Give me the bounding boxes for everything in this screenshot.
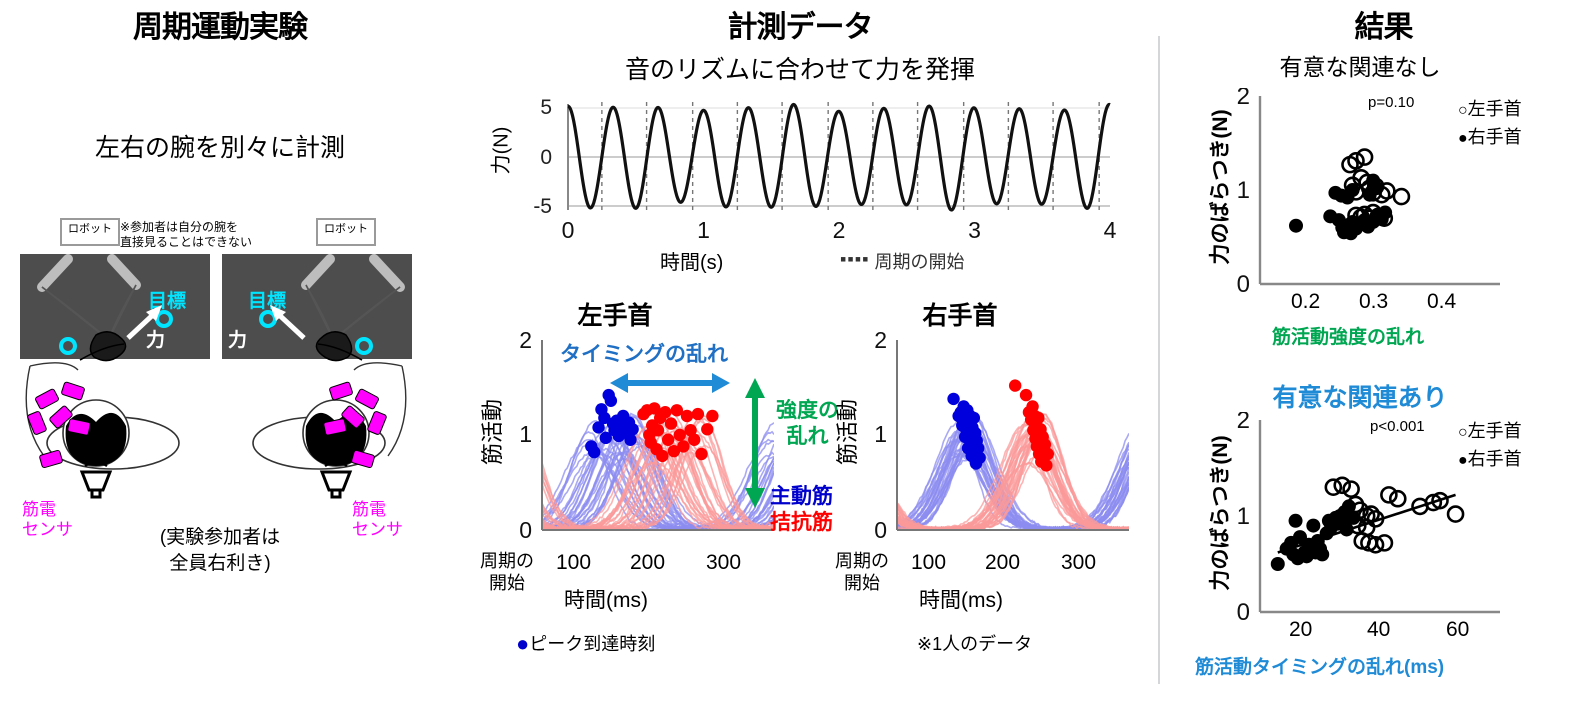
scatter-intensity-xlabel: 筋活動強度の乱れ bbox=[1272, 322, 1424, 349]
force-arrow-right bbox=[252, 300, 312, 350]
participant-figure-right bbox=[214, 360, 414, 500]
cycle-start-dash-icon: ▪▪▪▪ bbox=[840, 249, 870, 269]
sc2-xtick-60: 60 bbox=[1446, 618, 1469, 642]
svg-text:0: 0 bbox=[1237, 271, 1250, 298]
legend-right-label-1: 右手首 bbox=[1468, 127, 1522, 147]
svg-text:0: 0 bbox=[562, 217, 575, 243]
emg-sensor-label-left: 筋電 センサ bbox=[22, 500, 73, 540]
emg-right-xtick-300: 300 bbox=[1061, 551, 1096, 575]
antagonist-label: 拮抗筋 bbox=[770, 506, 833, 536]
emg-left-cycle-start: 周期の 開始 bbox=[470, 550, 544, 594]
sc2-xtick-40: 40 bbox=[1367, 618, 1390, 642]
legend-left-label-2: 左手首 bbox=[1468, 421, 1522, 441]
svg-text:1: 1 bbox=[519, 421, 532, 447]
left-panel-subtitle: 左右の腕を別々に計測 bbox=[0, 128, 440, 164]
emg-left-xtick-300: 300 bbox=[706, 551, 741, 575]
cycle-start-legend-label: 周期の開始 bbox=[875, 252, 965, 272]
scatter-timing-xlabel: 筋活動タイミングの乱れ(ms) bbox=[1195, 652, 1444, 679]
left-panel-title: 周期運動実験 bbox=[0, 2, 440, 46]
scatter-timing-legend: ○左手首 ●右手首 bbox=[1458, 418, 1522, 474]
timing-variability-label: タイミングの乱れ bbox=[560, 338, 728, 368]
hand-ring-left bbox=[59, 337, 77, 355]
force-waveform-svg: 5 0 -5 01234 bbox=[490, 86, 1130, 276]
scatter-timing-pvalue: p<0.001 bbox=[1370, 418, 1425, 435]
hand-ring-right bbox=[355, 337, 373, 355]
scatter-intensity-ylabel-wrap: 力のばらつき(N) bbox=[1204, 110, 1234, 260]
peak-dot-icon: ● bbox=[516, 631, 529, 656]
svg-text:5: 5 bbox=[540, 96, 552, 119]
handedness-caption: (実験参加者は 全員右利き) bbox=[80, 525, 360, 577]
force-waveform-xlabel: 時間(s) bbox=[660, 246, 723, 275]
force-waveform-chart: 5 0 -5 01234 bbox=[490, 86, 1130, 276]
participant-figure-left bbox=[18, 360, 218, 500]
legend-right-label-2: 右手首 bbox=[1468, 449, 1522, 469]
single-subject-note: ※1人のデータ bbox=[917, 630, 1032, 656]
scatter-timing-subtitle: 有意な関連あり bbox=[1210, 378, 1510, 414]
force-waveform-ylabel-wrap: 力(N) bbox=[478, 118, 518, 178]
filled-circle-icon-1: ● bbox=[1458, 130, 1468, 147]
emg-right-cycle-start-line1: 周期の bbox=[825, 550, 899, 572]
force-label-right: 力 bbox=[228, 325, 247, 352]
svg-text:0: 0 bbox=[519, 517, 532, 543]
sc1-xtick-04: 0.4 bbox=[1427, 290, 1456, 314]
legend-row-right-2: ●右手首 bbox=[1458, 446, 1522, 474]
right-wrist-title: 右手首 bbox=[850, 296, 1070, 332]
handedness-caption-line1: (実験参加者は bbox=[80, 525, 360, 551]
force-waveform-ylabel: 力(N) bbox=[485, 116, 514, 186]
right-panel-title: 結果 bbox=[1190, 2, 1577, 46]
emg-left-ylabel-wrap: 筋活動 bbox=[470, 390, 510, 470]
middle-panel-title: 計測データ bbox=[610, 2, 990, 46]
emg-right-cycle-start: 周期の 開始 bbox=[825, 550, 899, 594]
open-circle-icon-2: ○ bbox=[1458, 424, 1468, 441]
cycle-start-legend: ▪▪▪▪ 周期の開始 bbox=[840, 248, 965, 274]
emg-right-svg: 2 1 0 bbox=[845, 332, 1145, 562]
filled-circle-icon-2: ● bbox=[1458, 452, 1468, 469]
handedness-caption-line2: 全員右利き) bbox=[80, 551, 360, 577]
emg-right-cycle-start-line2: 開始 bbox=[825, 572, 899, 594]
svg-text:2: 2 bbox=[833, 217, 846, 243]
svg-text:2: 2 bbox=[1237, 412, 1250, 434]
peak-time-legend: ●ピーク到達時刻 bbox=[516, 630, 655, 657]
legend-row-left-1: ○左手首 bbox=[1458, 96, 1522, 124]
sc1-xtick-03: 0.3 bbox=[1359, 290, 1388, 314]
legend-row-left-2: ○左手首 bbox=[1458, 418, 1522, 446]
emg-left-xtick-200: 200 bbox=[630, 551, 665, 575]
emg-left-ylabel: 筋活動 bbox=[475, 387, 507, 477]
force-label-left: 力 bbox=[146, 325, 165, 352]
emg-left-xtick-100: 100 bbox=[556, 551, 591, 575]
svg-text:4: 4 bbox=[1104, 217, 1117, 243]
svg-text:2: 2 bbox=[519, 332, 532, 353]
emg-left-xlabel: 時間(ms) bbox=[564, 584, 648, 614]
svg-text:1: 1 bbox=[697, 217, 710, 243]
emg-right-xtick-100: 100 bbox=[911, 551, 946, 575]
legend-row-right-1: ●右手首 bbox=[1458, 124, 1522, 152]
emg-left-cycle-start-line1: 周期の bbox=[470, 550, 544, 572]
legend-left-label-1: 左手首 bbox=[1468, 99, 1522, 119]
emg-right-chart: 2 1 0 bbox=[845, 332, 1145, 562]
scatter-intensity-pvalue: p=0.10 bbox=[1368, 94, 1414, 111]
sc1-xtick-02: 0.2 bbox=[1291, 290, 1320, 314]
emg-right-xtick-200: 200 bbox=[985, 551, 1020, 575]
svg-text:1: 1 bbox=[1237, 177, 1250, 204]
emg-sensor-label-right-line1: 筋電 bbox=[352, 500, 403, 520]
sc2-xtick-20: 20 bbox=[1289, 618, 1312, 642]
svg-text:1: 1 bbox=[874, 421, 887, 447]
open-circle-icon-1: ○ bbox=[1458, 102, 1468, 119]
emg-sensor-label-left-line2: センサ bbox=[22, 520, 73, 540]
svg-text:1: 1 bbox=[1237, 503, 1250, 530]
middle-panel-subtitle: 音のリズムに合わせて力を発揮 bbox=[560, 50, 1040, 86]
left-wrist-title: 左手首 bbox=[500, 296, 730, 332]
scatter-timing-ylabel-wrap: 力のばらつき(N) bbox=[1204, 436, 1234, 586]
scatter-intensity-legend: ○左手首 ●右手首 bbox=[1458, 96, 1522, 152]
peak-time-legend-label: ピーク到達時刻 bbox=[529, 634, 655, 654]
emg-sensor-label-left-line1: 筋電 bbox=[22, 500, 73, 520]
svg-text:2: 2 bbox=[874, 332, 887, 353]
timing-variability-arrow bbox=[610, 368, 730, 398]
intensity-variability-arrow bbox=[740, 378, 770, 508]
svg-text:0: 0 bbox=[540, 146, 552, 169]
svg-text:0: 0 bbox=[874, 517, 887, 543]
panel-divider bbox=[1158, 36, 1160, 684]
emg-left-cycle-start-line2: 開始 bbox=[470, 572, 544, 594]
svg-text:0: 0 bbox=[1237, 599, 1250, 626]
emg-right-xlabel: 時間(ms) bbox=[919, 584, 1003, 614]
emg-right-ylabel: 筋活動 bbox=[830, 387, 862, 477]
scatter-intensity-subtitle: 有意な関連なし bbox=[1190, 48, 1530, 82]
svg-text:2: 2 bbox=[1237, 88, 1250, 110]
emg-right-ylabel-wrap: 筋活動 bbox=[825, 390, 865, 470]
scatter-timing-ylabel: 力のばらつき(N) bbox=[1204, 428, 1234, 598]
scatter-intensity-ylabel: 力のばらつき(N) bbox=[1204, 102, 1234, 272]
svg-text:-5: -5 bbox=[533, 195, 552, 218]
svg-text:3: 3 bbox=[968, 217, 981, 243]
